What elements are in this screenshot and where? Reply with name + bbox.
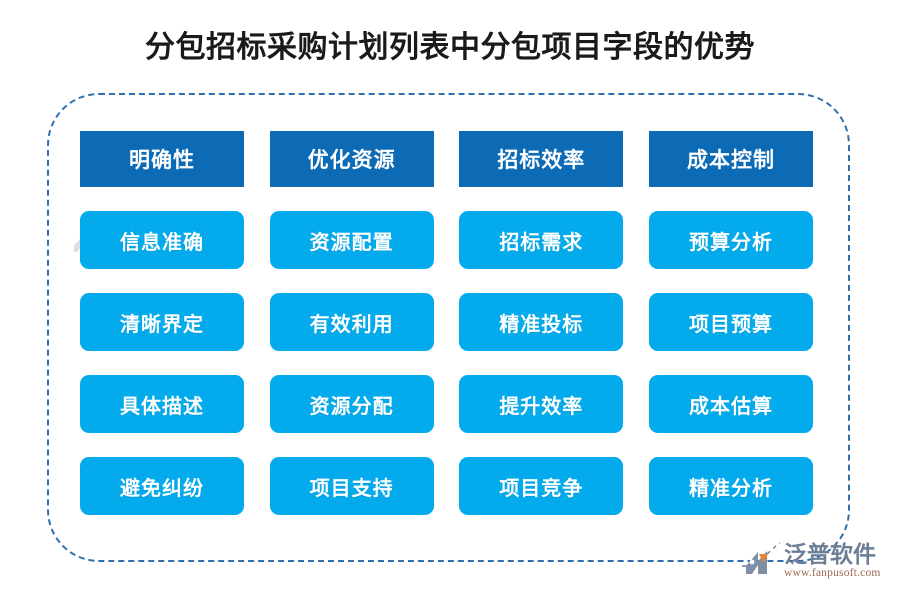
logo-text-group: 泛普软件 www.fanpusoft.com bbox=[784, 542, 881, 580]
matrix-cell[interactable]: 项目竞争 bbox=[459, 457, 623, 515]
matrix-cell[interactable]: 成本估算 bbox=[649, 375, 813, 433]
matrix-header-row: 明确性 优化资源 招标效率 成本控制 bbox=[80, 131, 813, 187]
matrix-cell[interactable]: 资源配置 bbox=[270, 211, 434, 269]
matrix-cell[interactable]: 提升效率 bbox=[459, 375, 623, 433]
matrix-cell[interactable]: 项目预算 bbox=[649, 293, 813, 351]
matrix-cell[interactable]: 精准投标 bbox=[459, 293, 623, 351]
matrix-header-cell[interactable]: 招标效率 bbox=[459, 131, 623, 187]
matrix-cell[interactable]: 具体描述 bbox=[80, 375, 244, 433]
logo-company-name: 泛普软件 bbox=[784, 542, 881, 566]
matrix-header-cell[interactable]: 成本控制 bbox=[649, 131, 813, 187]
fanpu-logo-icon bbox=[740, 540, 782, 580]
matrix-cell[interactable]: 招标需求 bbox=[459, 211, 623, 269]
matrix-header-cell[interactable]: 明确性 bbox=[80, 131, 244, 187]
matrix-row: 信息准确 资源配置 招标需求 预算分析 bbox=[80, 211, 813, 269]
matrix-cell[interactable]: 预算分析 bbox=[649, 211, 813, 269]
matrix-row: 清晰界定 有效利用 精准投标 项目预算 bbox=[80, 293, 813, 351]
brand-logo: 泛普软件 www.fanpusoft.com bbox=[740, 532, 882, 588]
logo-website-url: www.fanpusoft.com bbox=[784, 567, 881, 580]
matrix-cell[interactable]: 资源分配 bbox=[270, 375, 434, 433]
matrix-cell[interactable]: 精准分析 bbox=[649, 457, 813, 515]
matrix-header-cell[interactable]: 优化资源 bbox=[270, 131, 434, 187]
matrix-row: 具体描述 资源分配 提升效率 成本估算 bbox=[80, 375, 813, 433]
matrix-cell[interactable]: 项目支持 bbox=[270, 457, 434, 515]
matrix-row: 避免纠纷 项目支持 项目竞争 精准分析 bbox=[80, 457, 813, 515]
matrix-cell[interactable]: 清晰界定 bbox=[80, 293, 244, 351]
page-title: 分包招标采购计划列表中分包项目字段的优势 bbox=[0, 28, 900, 68]
advantage-matrix: 明确性 优化资源 招标效率 成本控制 信息准确 资源配置 招标需求 预算分析 清… bbox=[80, 131, 813, 514]
matrix-cell[interactable]: 有效利用 bbox=[270, 293, 434, 351]
matrix-cell[interactable]: 避免纠纷 bbox=[80, 457, 244, 515]
matrix-cell[interactable]: 信息准确 bbox=[80, 211, 244, 269]
